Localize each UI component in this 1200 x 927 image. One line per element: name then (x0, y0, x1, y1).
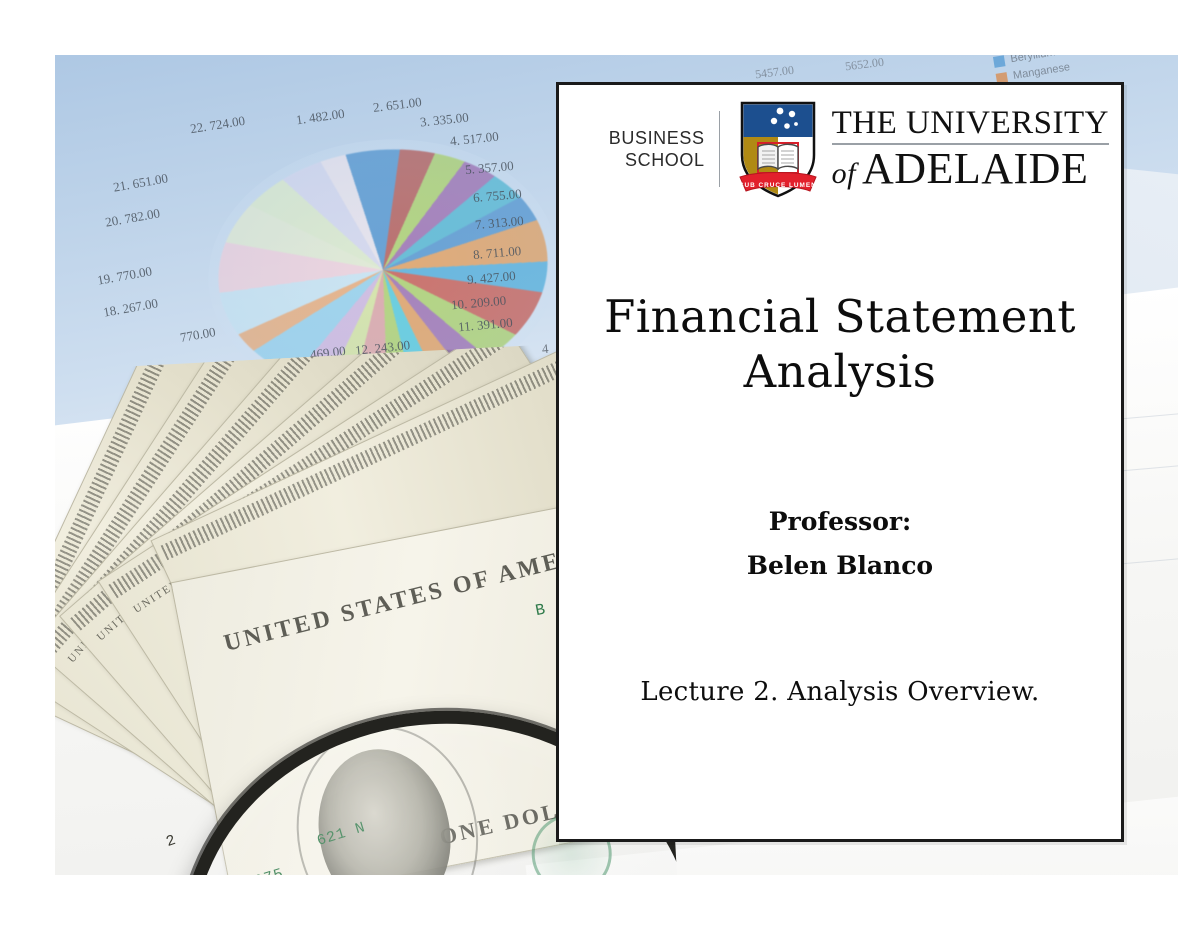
pie-label: 3. 335.00 (419, 109, 469, 130)
brand-divider (719, 111, 720, 187)
pie-label: 2. 651.00 (372, 94, 422, 116)
legend-label: Manganese (1012, 61, 1071, 82)
slide-title: Financial Statement Analysis (559, 290, 1121, 400)
brand-school-line: SCHOOL (609, 149, 705, 171)
pie-label: 22. 724.00 (189, 113, 246, 137)
wordmark-adelaide: ADELAIDE (862, 147, 1088, 191)
pie-label: 20. 782.00 (104, 205, 161, 230)
report-top-number-2: 5652.00 (844, 55, 885, 74)
wordmark-bottom-line: of ADELAIDE (832, 147, 1089, 191)
professor-label: Professor: (559, 500, 1121, 544)
slide-title-line-1: Financial Statement (559, 290, 1121, 345)
legend-swatch-icon (993, 55, 1006, 67)
lecture-subtitle: Lecture 2. Analysis Overview. (559, 677, 1121, 707)
pie-label: 21. 651.00 (112, 170, 169, 195)
university-branding: BUSINESS SCHOOL (559, 93, 1121, 205)
professor-name: Belen Blanco (559, 544, 1121, 588)
wordmark-top-line: THE UNIVERSITY (832, 107, 1109, 140)
bill-serial-number: 2 (164, 832, 179, 851)
pie-label: 19. 770.00 (96, 263, 153, 288)
presentation-slide: 5457.00 5652.00 Beryllium Manganese 22. … (0, 0, 1200, 927)
presenter-block: Professor: Belen Blanco (559, 500, 1121, 588)
university-wordmark: THE UNIVERSITY of ADELAIDE (832, 107, 1109, 191)
business-school-lockup: BUSINESS SCHOOL (609, 127, 719, 172)
report-top-number-1: 5457.00 (754, 63, 795, 83)
pie-label: 1. 482.00 (295, 106, 346, 129)
pie-label: 18. 267.00 (102, 295, 159, 320)
university-crest-icon: SUB CRUCE LUMEN (736, 99, 820, 199)
slide-title-line-2: Analysis (559, 345, 1121, 400)
crest-motto: SUB CRUCE LUMEN (739, 182, 817, 189)
pie-label: 770.00 (179, 324, 217, 346)
brand-business-line: BUSINESS (609, 127, 705, 149)
title-content-panel: BUSINESS SCHOOL (556, 82, 1124, 842)
wordmark-of: of (832, 159, 856, 189)
